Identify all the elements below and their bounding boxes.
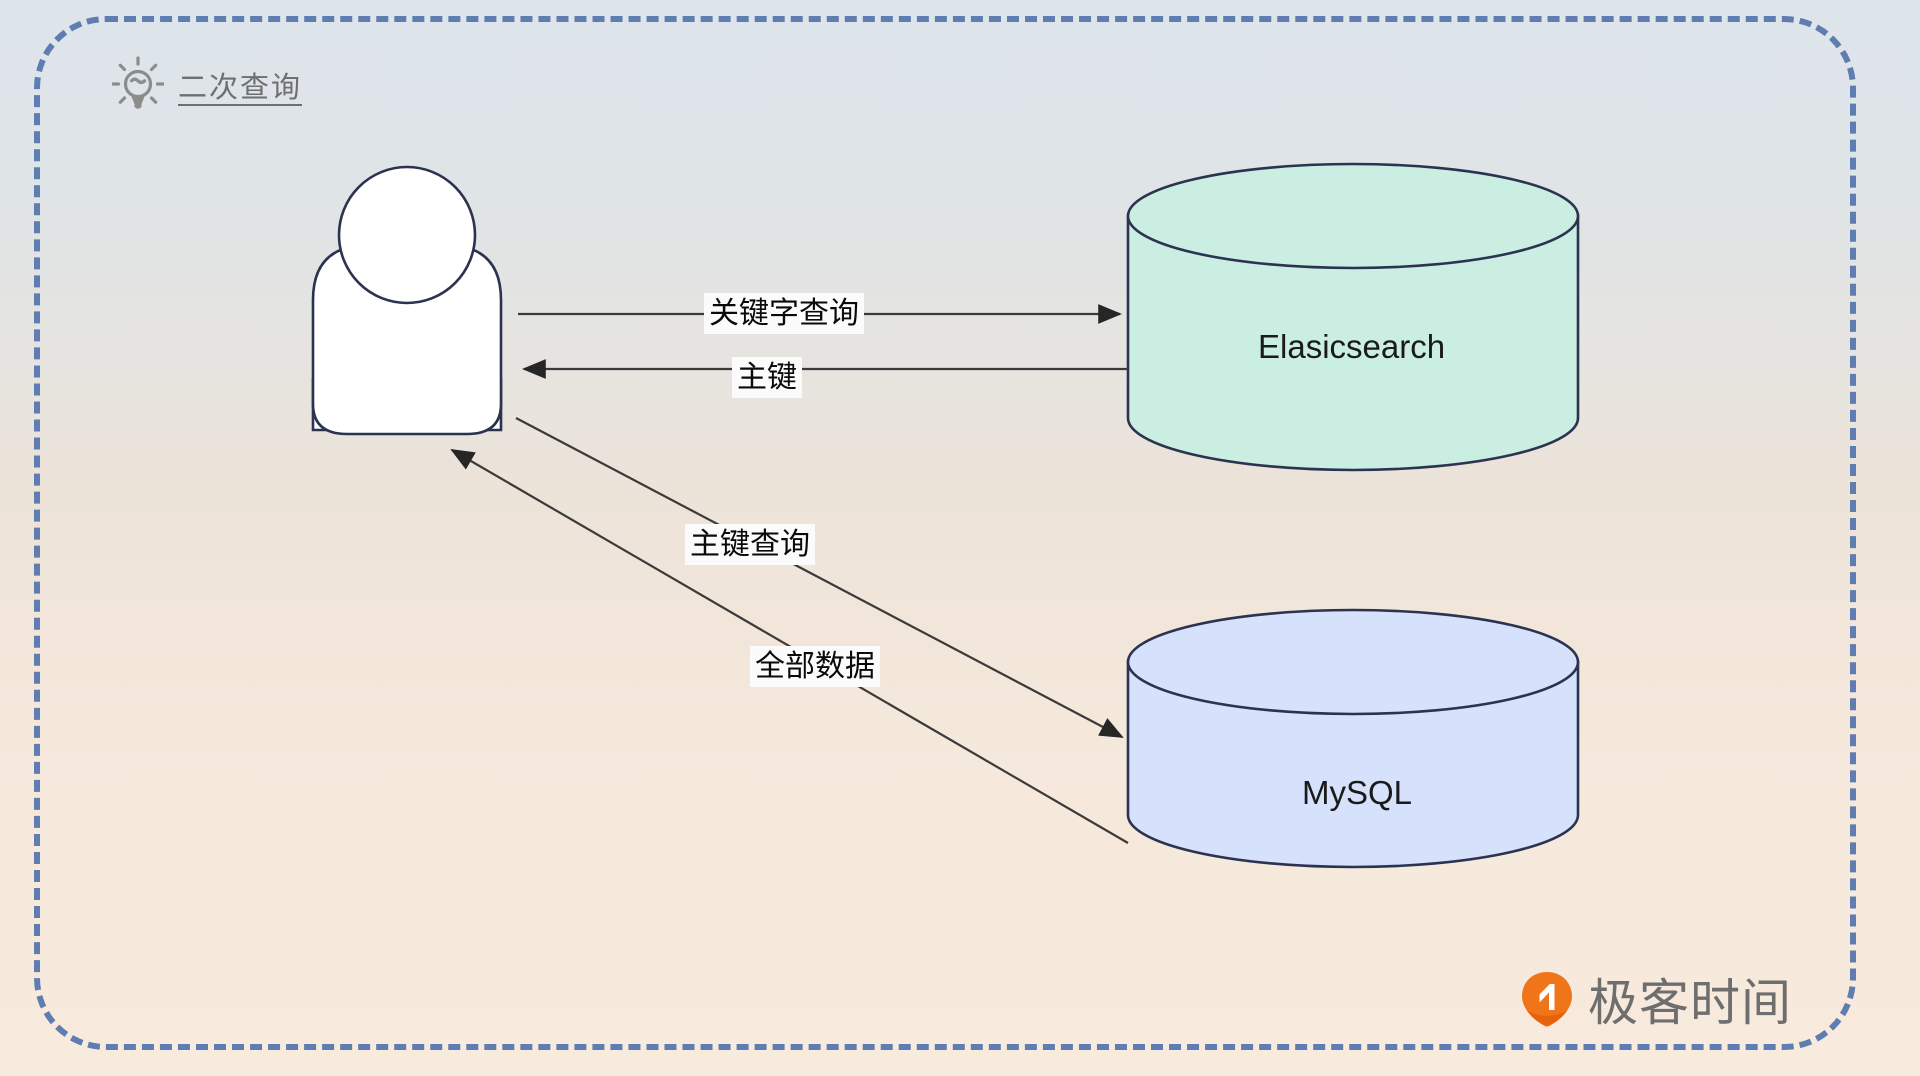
mysql-cylinder-top <box>1128 610 1578 714</box>
edge-label-keyword-query: 关键字查询 <box>704 293 864 334</box>
elasticsearch-node-label: Elasicsearch <box>1258 328 1445 366</box>
mysql-node-label: MySQL <box>1302 774 1412 812</box>
edge-label-primary-key-query: 主键查询 <box>685 524 815 565</box>
mysql-node[interactable] <box>1128 610 1578 867</box>
elasticsearch-cylinder-top <box>1128 164 1578 268</box>
brand-name: 极客时间 <box>1588 963 1792 1035</box>
actor-body-bottom-icon <box>313 378 501 434</box>
edge-primary-key-query-line <box>516 418 1122 737</box>
actor-head-icon <box>339 167 475 303</box>
edge-label-primary-key: 主键 <box>732 357 802 398</box>
diagram-canvas: 二次查询 <box>0 0 1920 1076</box>
diagram-shapes-layer <box>0 0 1920 1076</box>
geektime-logo-icon <box>1518 970 1576 1028</box>
brand-watermark: 极客时间 <box>1518 963 1792 1035</box>
edge-label-all-data: 全部数据 <box>750 646 880 687</box>
elasticsearch-node[interactable] <box>1128 164 1578 470</box>
actor-user-node[interactable] <box>313 167 501 434</box>
